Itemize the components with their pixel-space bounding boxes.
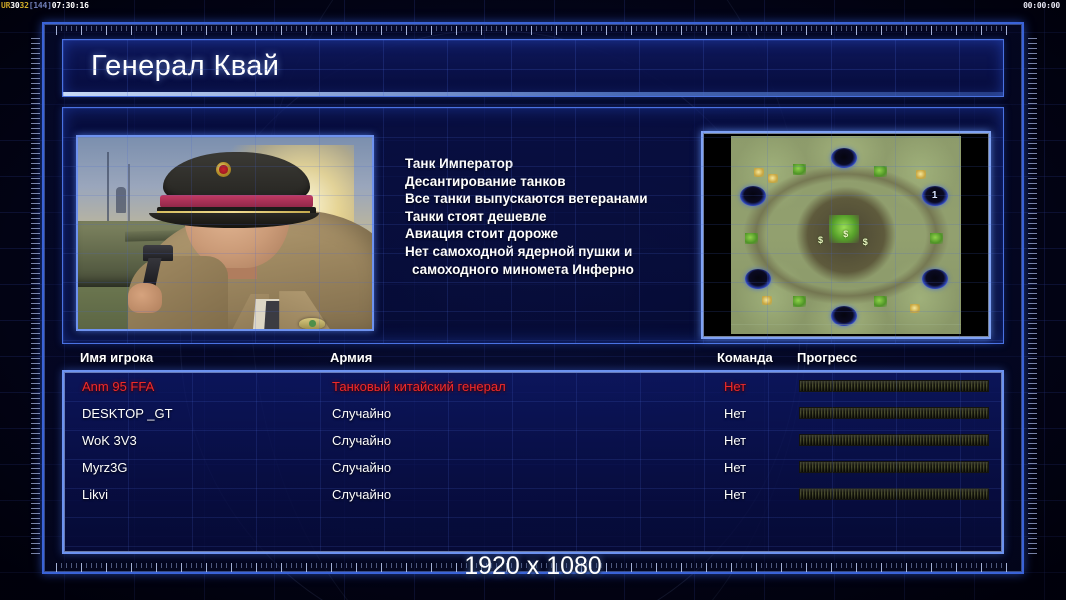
ruler-top bbox=[56, 26, 1008, 35]
map-start-position[interactable] bbox=[831, 148, 857, 168]
map-start-label bbox=[831, 148, 857, 168]
map-resource-node bbox=[754, 168, 764, 177]
progress-gloss bbox=[800, 435, 988, 439]
map-supply-label: $ bbox=[843, 229, 848, 239]
map-letterbox-right bbox=[961, 136, 986, 334]
overlay-tag: UR bbox=[1, 1, 10, 10]
portrait-rank-badge bbox=[299, 318, 325, 329]
portrait-hand bbox=[128, 283, 162, 313]
player-progress-bar bbox=[799, 407, 989, 419]
general-kwai-portrait bbox=[78, 137, 372, 329]
table-row[interactable]: WoK 3V3 Случайно Нет bbox=[64, 429, 1002, 453]
map-supply-label: $ bbox=[818, 235, 823, 245]
table-row[interactable]: DESKTOP _GT Случайно Нет bbox=[64, 402, 1002, 426]
map-tree-cluster bbox=[874, 166, 887, 177]
player-list-panel: Anm 95 FFA Танковый китайский генерал Не… bbox=[62, 370, 1004, 554]
general-portrait-frame bbox=[76, 135, 374, 331]
map-start-position[interactable] bbox=[745, 269, 771, 289]
player-army[interactable]: Случайно bbox=[332, 487, 391, 502]
top-status-bar: UR3032[144]07:30:16 00:00:00 bbox=[0, 0, 1066, 12]
portrait-pole-2 bbox=[128, 164, 130, 229]
player-team[interactable]: Нет bbox=[724, 406, 746, 421]
map-start-label bbox=[740, 186, 766, 206]
map-boundary-line bbox=[731, 324, 961, 325]
map-start-label: 1 bbox=[922, 186, 948, 206]
player-army[interactable]: Танковый китайский генерал bbox=[332, 379, 506, 394]
map-tree-cluster bbox=[793, 164, 806, 175]
map-resource-node bbox=[768, 174, 778, 183]
player-progress-bar bbox=[799, 380, 989, 392]
title-band: Генерал Квай bbox=[62, 39, 1004, 97]
player-team[interactable]: Нет bbox=[724, 487, 746, 502]
table-row[interactable]: Likvi Случайно Нет bbox=[64, 483, 1002, 507]
player-progress-bar bbox=[799, 434, 989, 446]
overlay-fps: [144] bbox=[29, 1, 52, 10]
map-resource-node bbox=[916, 170, 926, 179]
general-abilities-list: Танк Император Десантирование танков Все… bbox=[405, 155, 735, 278]
map-start-label bbox=[922, 269, 948, 289]
lobby-window: Генерал Квай bbox=[42, 22, 1024, 574]
column-header-progress: Прогресс bbox=[797, 350, 857, 365]
ability-item: Авиация стоит дороже bbox=[405, 225, 735, 243]
map-supply-label: $ bbox=[863, 237, 868, 247]
title-underline bbox=[63, 92, 1003, 96]
portrait-distant-figure bbox=[116, 187, 126, 213]
resolution-label: 1920 x 1080 bbox=[0, 552, 1066, 581]
player-name: WoK 3V3 bbox=[82, 433, 137, 448]
progress-gloss bbox=[800, 381, 988, 385]
ability-item: самоходного миномета Инферно bbox=[405, 261, 735, 279]
session-timer: 00:00:00 bbox=[1023, 0, 1060, 12]
player-army[interactable]: Случайно bbox=[332, 406, 391, 421]
map-preview[interactable]: $ $ $ 1 bbox=[706, 136, 986, 334]
portrait-cap-band bbox=[160, 195, 313, 208]
column-header-name: Имя игрока bbox=[80, 350, 153, 365]
player-progress-bar bbox=[799, 488, 989, 500]
progress-gloss bbox=[800, 489, 988, 493]
ability-item: Десантирование танков bbox=[405, 173, 735, 191]
overlay-clock: 07:30:16 bbox=[52, 1, 89, 10]
map-resource-node bbox=[762, 296, 772, 305]
map-tree-cluster bbox=[745, 233, 758, 244]
overlay-stats: UR3032[144]07:30:16 bbox=[1, 0, 89, 12]
overlay-value-2: 32 bbox=[19, 1, 28, 10]
player-name: DESKTOP _GT bbox=[82, 406, 173, 421]
column-header-army: Армия bbox=[330, 350, 372, 365]
player-army[interactable]: Случайно bbox=[332, 460, 391, 475]
map-start-label bbox=[745, 269, 771, 289]
player-list-headers: Имя игрока Армия Команда Прогресс bbox=[62, 348, 1004, 370]
progress-gloss bbox=[800, 408, 988, 412]
ability-item: Нет самоходной ядерной пушки и bbox=[405, 243, 735, 261]
ruler-right bbox=[1028, 38, 1037, 558]
map-letterbox-left bbox=[706, 136, 731, 334]
map-tree-cluster bbox=[793, 296, 806, 307]
portrait-pole bbox=[107, 152, 109, 229]
page-title: Генерал Квай bbox=[91, 50, 279, 83]
map-preview-frame[interactable]: $ $ $ 1 bbox=[701, 131, 991, 339]
map-start-position[interactable] bbox=[740, 186, 766, 206]
map-tree-cluster bbox=[874, 296, 887, 307]
player-team[interactable]: Нет bbox=[724, 379, 746, 394]
table-row[interactable]: Anm 95 FFA Танковый китайский генерал Не… bbox=[64, 375, 1002, 399]
ruler-left bbox=[31, 38, 40, 558]
ability-item: Танк Император bbox=[405, 155, 735, 173]
player-name: Likvi bbox=[82, 487, 108, 502]
map-start-position[interactable]: 1 bbox=[922, 186, 948, 206]
player-team[interactable]: Нет bbox=[724, 460, 746, 475]
player-name: Myrz3G bbox=[82, 460, 128, 475]
map-tree-cluster bbox=[930, 233, 943, 244]
table-row[interactable]: Myrz3G Случайно Нет bbox=[64, 456, 1002, 480]
player-progress-bar bbox=[799, 461, 989, 473]
game-lobby-screen: UR3032[144]07:30:16 00:00:00 Генерал Ква… bbox=[0, 0, 1066, 600]
map-start-position[interactable] bbox=[922, 269, 948, 289]
ability-item: Все танки выпускаются ветеранами bbox=[405, 190, 735, 208]
general-info-panel: Танк Император Десантирование танков Все… bbox=[62, 107, 1004, 344]
player-team[interactable]: Нет bbox=[724, 433, 746, 448]
player-name: Anm 95 FFA bbox=[82, 379, 154, 394]
map-resource-node bbox=[910, 304, 920, 313]
column-header-team: Команда bbox=[717, 350, 773, 365]
player-army[interactable]: Случайно bbox=[332, 433, 391, 448]
ability-item: Танки стоят дешевле bbox=[405, 208, 735, 226]
progress-gloss bbox=[800, 462, 988, 466]
